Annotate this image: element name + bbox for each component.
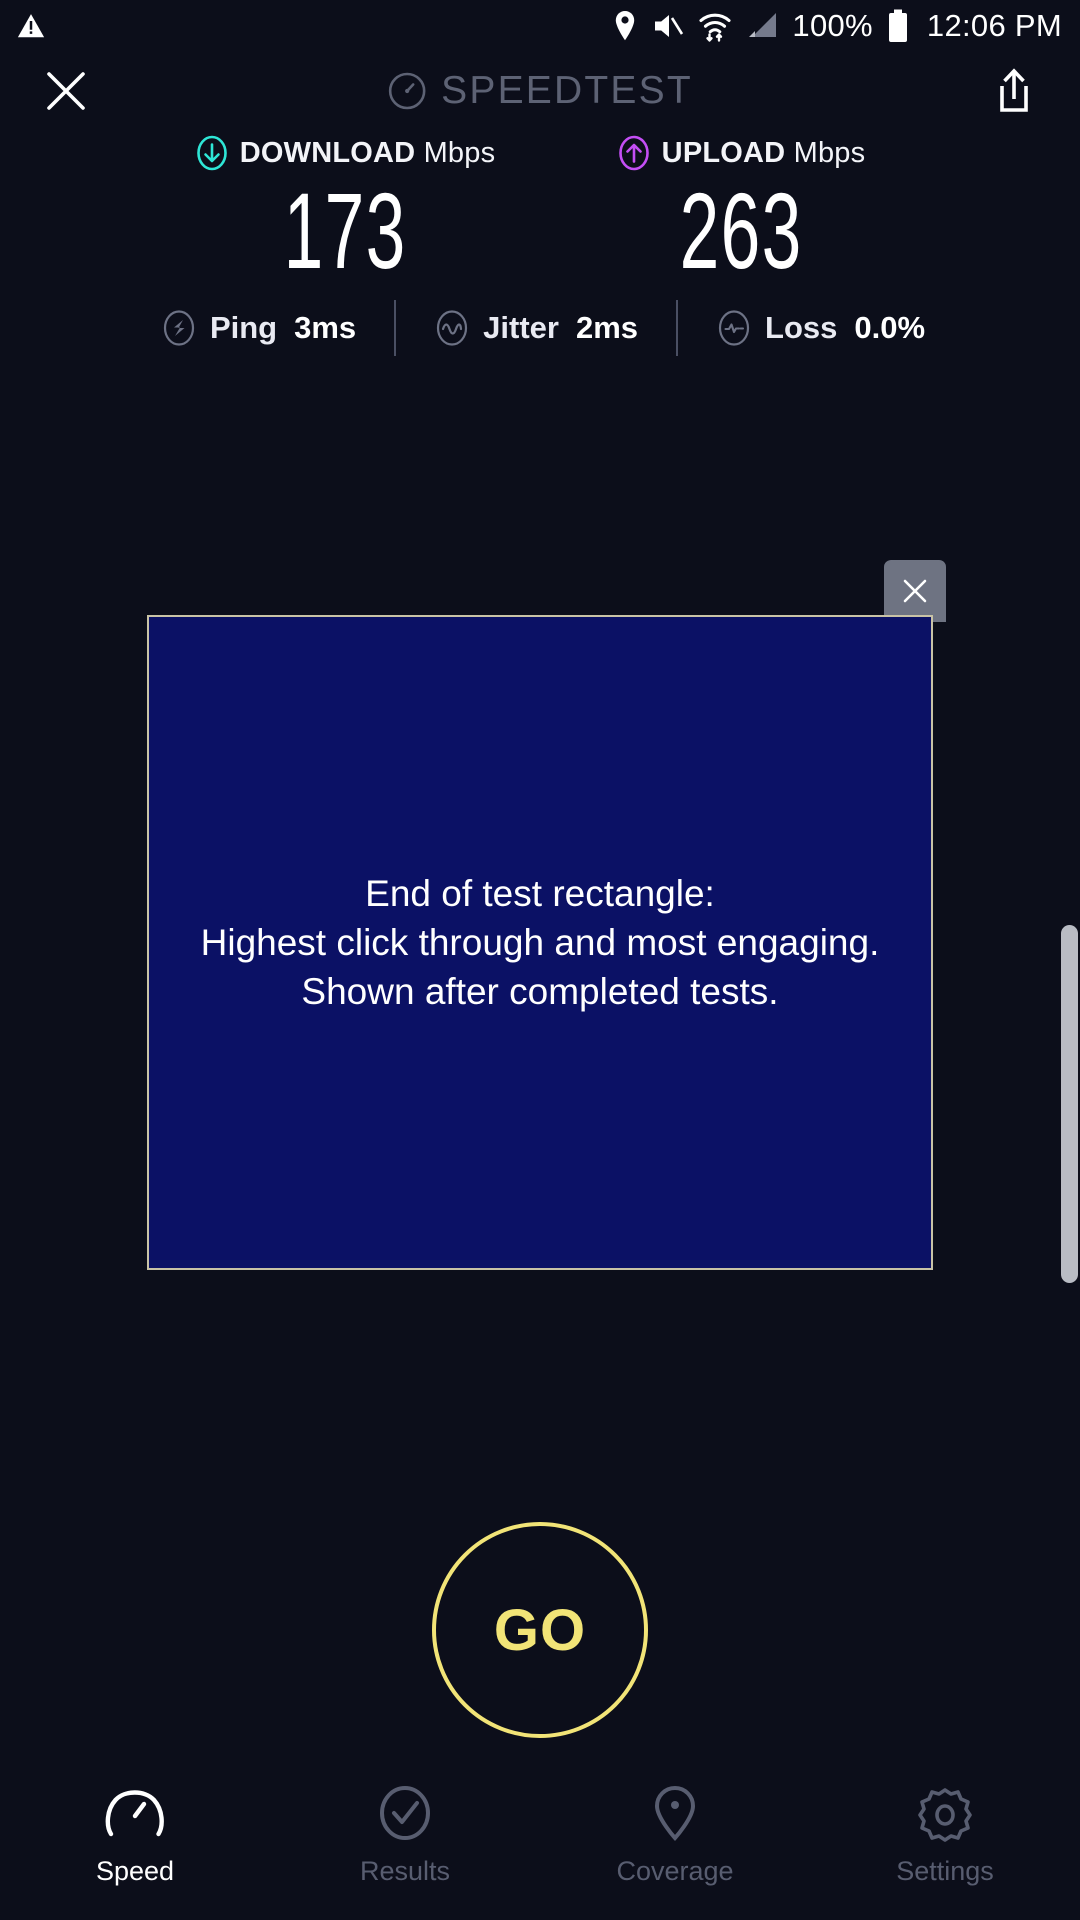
nav-label-settings: Settings: [896, 1856, 994, 1887]
check-circle-icon: [374, 1784, 436, 1842]
ad-text-line-3: Shown after completed tests.: [201, 967, 880, 1016]
nav-label-coverage: Coverage: [616, 1856, 733, 1887]
battery-full-icon: [887, 9, 909, 43]
share-button[interactable]: [986, 63, 1042, 119]
go-button-label: GO: [494, 1597, 586, 1664]
status-bar-right: 100% 12:06 PM: [612, 8, 1062, 44]
ping-metric: Ping 3ms: [161, 308, 356, 348]
loss-metric: Loss 0.0%: [716, 308, 925, 348]
nav-label-results: Results: [360, 1856, 450, 1887]
jitter-value: 2ms: [576, 310, 638, 346]
nav-item-coverage[interactable]: Coverage: [540, 1784, 810, 1887]
nav-item-results[interactable]: Results: [270, 1784, 540, 1887]
ad-close-button[interactable]: [884, 560, 946, 622]
cell-signal-icon: [746, 11, 778, 41]
metric-divider: [676, 300, 678, 356]
speedometer-icon: [104, 1784, 166, 1842]
ad-banner[interactable]: End of test rectangle: Highest click thr…: [147, 615, 933, 1270]
speedometer-icon: [387, 71, 427, 111]
jitter-metric: Jitter 2ms: [434, 308, 638, 348]
ping-label: Ping: [210, 310, 277, 346]
ad-text-line-2: Highest click through and most engaging.: [201, 918, 880, 967]
brand-title: SPEEDTEST: [441, 69, 693, 113]
warning-triangle-icon: [16, 11, 46, 41]
jitter-wave-icon: [434, 308, 470, 348]
ping-jitter-loss-row: Ping 3ms Jitter 2ms: [0, 296, 1080, 360]
app-header: SPEEDTEST: [0, 52, 1080, 130]
download-label: DOWNLOAD Mbps: [240, 137, 496, 170]
system-status-bar: 100% 12:06 PM: [0, 0, 1080, 52]
jitter-label: Jitter: [483, 310, 559, 346]
scrollbar-thumb[interactable]: [1061, 925, 1078, 1283]
battery-percent-label: 100%: [792, 8, 873, 44]
bottom-navigation-bar: Speed Results Coverage: [0, 1770, 1080, 1920]
wifi-icon: [698, 9, 732, 43]
download-header: DOWNLOAD Mbps: [195, 134, 496, 172]
brand-logo: SPEEDTEST: [387, 69, 693, 113]
packet-loss-icon: [716, 308, 752, 348]
nav-item-settings[interactable]: Settings: [810, 1784, 1080, 1887]
nav-label-speed: Speed: [96, 1856, 174, 1887]
speed-metrics-row: DOWNLOAD Mbps 173 UPLOAD Mbps: [0, 134, 1080, 286]
metric-divider: [394, 300, 396, 356]
upload-label: UPLOAD Mbps: [662, 137, 866, 170]
loss-value: 0.0%: [854, 310, 925, 346]
download-value: 173: [284, 176, 407, 286]
upload-value: 263: [680, 176, 803, 286]
ping-value: 3ms: [294, 310, 356, 346]
ad-text-line-1: End of test rectangle:: [201, 869, 880, 918]
ad-text: End of test rectangle: Highest click thr…: [201, 869, 880, 1017]
download-arrow-icon: [195, 134, 229, 172]
download-metric: DOWNLOAD Mbps 173: [190, 134, 500, 286]
test-results-panel: DOWNLOAD Mbps 173 UPLOAD Mbps: [0, 134, 1080, 360]
gear-icon: [914, 1784, 976, 1842]
close-test-button[interactable]: [38, 63, 94, 119]
go-button[interactable]: GO: [432, 1522, 648, 1738]
ping-icon: [161, 308, 197, 348]
nav-item-speed[interactable]: Speed: [0, 1784, 270, 1887]
speedtest-app-screen: 100% 12:06 PM: [0, 0, 1080, 1920]
status-bar-left: [16, 11, 46, 41]
upload-metric: UPLOAD Mbps 263: [586, 134, 896, 286]
status-bar-clock: 12:06 PM: [923, 8, 1062, 44]
map-pin-icon: [644, 1784, 706, 1842]
upload-header: UPLOAD Mbps: [617, 134, 866, 172]
volume-mute-icon: [652, 11, 684, 41]
loss-label: Loss: [765, 310, 837, 346]
upload-arrow-icon: [617, 134, 651, 172]
location-pin-icon: [612, 10, 638, 42]
